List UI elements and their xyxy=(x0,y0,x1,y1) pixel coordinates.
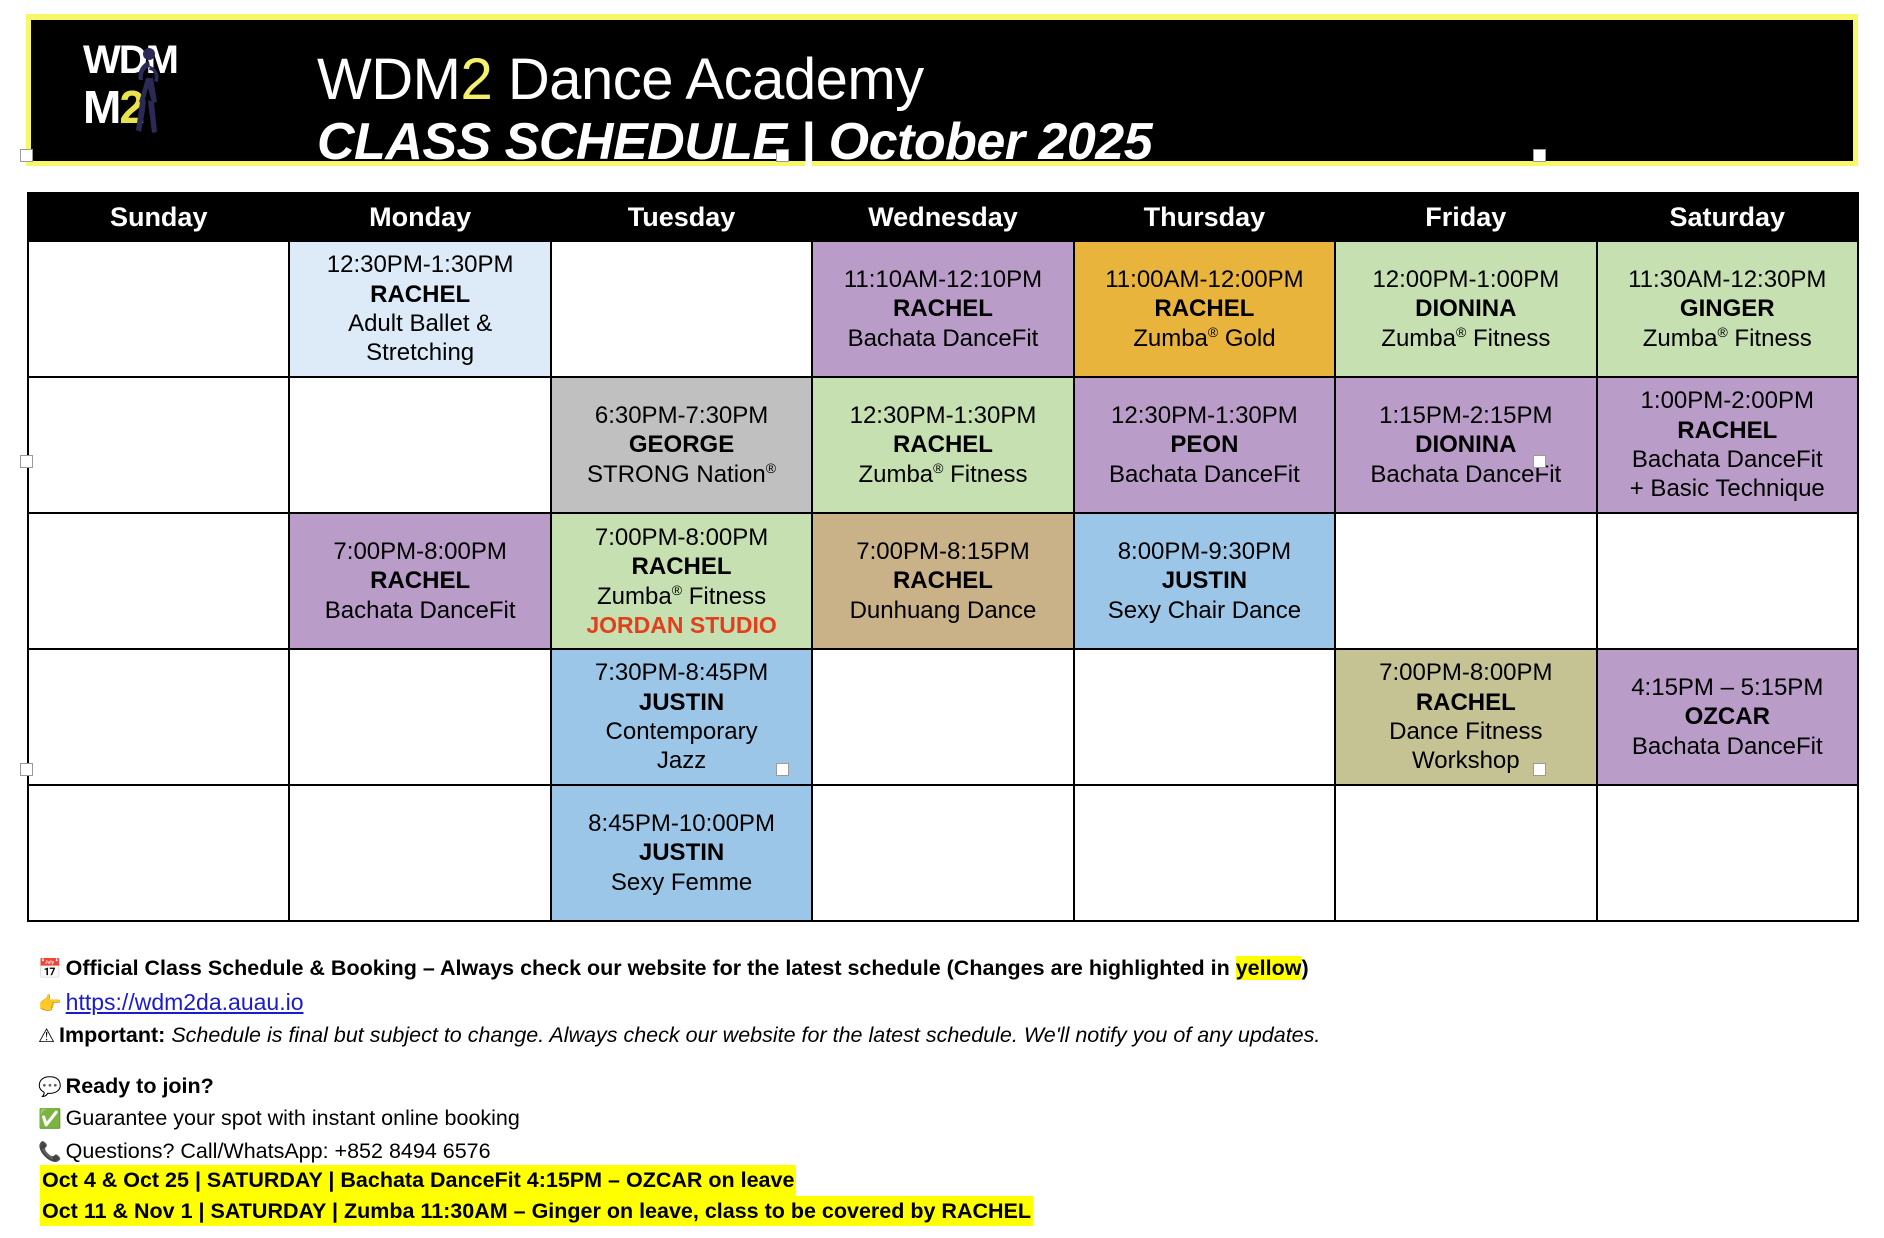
note-important-label: Important: xyxy=(59,1023,165,1047)
table-row: 12:30PM-1:30PMRACHELAdult Ballet &Stretc… xyxy=(28,241,1858,377)
class-cell-tuesday[interactable]: 6:30PM-7:30PMGEORGESTRONG Nation® xyxy=(551,377,812,513)
note-contact: 📞Questions? Call/WhatsApp: +852 8494 657… xyxy=(38,1135,1838,1168)
class-time: 12:30PM-1:30PM xyxy=(296,250,543,279)
class-time: 7:00PM-8:15PM xyxy=(819,537,1066,566)
class-title: + Basic Technique xyxy=(1604,474,1851,503)
class-instructor: JUSTIN xyxy=(558,838,805,867)
empty-cell-monday xyxy=(289,649,550,785)
class-cell-thursday[interactable]: 11:00AM-12:00PMRACHELZumba® Gold xyxy=(1074,241,1335,377)
class-time: 11:30AM-12:30PM xyxy=(1604,265,1851,294)
resize-handle-top-center[interactable] xyxy=(776,149,789,162)
class-time: 1:00PM-2:00PM xyxy=(1604,386,1851,415)
schedule-body: 12:30PM-1:30PMRACHELAdult Ballet &Stretc… xyxy=(28,241,1858,921)
class-cell-monday[interactable]: 12:30PM-1:30PMRACHELAdult Ballet &Stretc… xyxy=(289,241,550,377)
telephone-icon: 📞 xyxy=(38,1142,62,1163)
class-title: Bachata DanceFit xyxy=(1604,445,1851,474)
table-row: 8:45PM-10:00PMJUSTINSexy Femme xyxy=(28,785,1858,921)
class-instructor: RACHEL xyxy=(296,280,543,309)
class-cell-friday[interactable]: 12:00PM-1:00PMDIONINAZumba® Fitness xyxy=(1335,241,1596,377)
class-cell-monday[interactable]: 7:00PM-8:00PMRACHELBachata DanceFit xyxy=(289,513,550,649)
note-important-text: Schedule is final but subject to change.… xyxy=(165,1023,1320,1047)
class-cell-wednesday[interactable]: 7:00PM-8:15PMRACHELDunhuang Dance xyxy=(812,513,1073,649)
class-title: Contemporary xyxy=(558,717,805,746)
class-instructor: RACHEL xyxy=(1342,688,1589,717)
resize-handle-mid-right[interactable] xyxy=(1533,455,1546,468)
empty-cell-friday xyxy=(1335,785,1596,921)
empty-cell-sunday xyxy=(28,241,289,377)
class-title: Bachata DanceFit xyxy=(1081,460,1328,489)
class-time: 11:00AM-12:00PM xyxy=(1081,265,1328,294)
class-time: 6:30PM-7:30PM xyxy=(558,401,805,430)
class-title: Bachata DanceFit xyxy=(296,596,543,625)
table-row: 7:00PM-8:00PMRACHELBachata DanceFit7:00P… xyxy=(28,513,1858,649)
day-header-wednesday: Wednesday xyxy=(812,193,1073,241)
class-instructor: GINGER xyxy=(1604,294,1851,323)
class-studio-note: JORDAN STUDIO xyxy=(558,611,805,639)
class-title: Zumba® Fitness xyxy=(819,460,1066,489)
class-title: Zumba® Fitness xyxy=(558,582,805,611)
empty-cell-sunday xyxy=(28,513,289,649)
table-row: 6:30PM-7:30PMGEORGESTRONG Nation®12:30PM… xyxy=(28,377,1858,513)
class-time: 12:00PM-1:00PM xyxy=(1342,265,1589,294)
class-time: 12:30PM-1:30PM xyxy=(819,401,1066,430)
class-cell-friday[interactable]: 1:15PM-2:15PMDIONINABachata DanceFit xyxy=(1335,377,1596,513)
class-cell-wednesday[interactable]: 11:10AM-12:10PMRACHELBachata DanceFit xyxy=(812,241,1073,377)
class-instructor: RACHEL xyxy=(558,552,805,581)
class-time: 8:00PM-9:30PM xyxy=(1081,537,1328,566)
empty-cell-saturday xyxy=(1597,513,1858,649)
class-cell-saturday[interactable]: 1:00PM-2:00PMRACHELBachata DanceFit+ Bas… xyxy=(1597,377,1858,513)
class-cell-saturday[interactable]: 4:15PM – 5:15PMOZCARBachata DanceFit xyxy=(1597,649,1858,785)
empty-cell-wednesday xyxy=(812,649,1073,785)
substitution-note-2: Oct 11 & Nov 1 | SATURDAY | Zumba 11:30A… xyxy=(40,1196,1033,1227)
class-cell-thursday[interactable]: 12:30PM-1:30PMPEONBachata DanceFit xyxy=(1074,377,1335,513)
class-instructor: JUSTIN xyxy=(1081,566,1328,595)
day-header-thursday: Thursday xyxy=(1074,193,1335,241)
class-title: Jazz xyxy=(558,746,805,775)
class-cell-tuesday[interactable]: 7:00PM-8:00PMRACHELZumba® FitnessJORDAN … xyxy=(551,513,812,649)
note-official-schedule: 📅Official Class Schedule & Booking – Alw… xyxy=(38,952,1838,985)
empty-cell-saturday xyxy=(1597,785,1858,921)
class-title: Bachata DanceFit xyxy=(1342,460,1589,489)
note-contact-text: Questions? Call/WhatsApp: +852 8494 6576 xyxy=(66,1139,491,1163)
note-official-tail: ) xyxy=(1301,956,1308,980)
class-time: 1:15PM-2:15PM xyxy=(1342,401,1589,430)
resize-handle-top-left[interactable] xyxy=(20,149,33,162)
note-ready-text: Ready to join? xyxy=(66,1074,214,1098)
day-header-friday: Friday xyxy=(1335,193,1596,241)
class-instructor: GEORGE xyxy=(558,430,805,459)
class-cell-saturday[interactable]: 11:30AM-12:30PMGINGERZumba® Fitness xyxy=(1597,241,1858,377)
class-instructor: OZCAR xyxy=(1604,702,1851,731)
day-header-monday: Monday xyxy=(289,193,550,241)
class-title: Dunhuang Dance xyxy=(819,596,1066,625)
dancer-silhouette-icon xyxy=(127,44,167,140)
class-cell-wednesday[interactable]: 12:30PM-1:30PMRACHELZumba® Fitness xyxy=(812,377,1073,513)
resize-handle-top-right[interactable] xyxy=(1533,149,1546,162)
empty-cell-tuesday xyxy=(551,241,812,377)
class-title: Zumba® Fitness xyxy=(1342,324,1589,353)
table-header-row: Sunday Monday Tuesday Wednesday Thursday… xyxy=(28,193,1858,241)
empty-cell-sunday xyxy=(28,377,289,513)
day-header-sunday: Sunday xyxy=(28,193,289,241)
class-cell-thursday[interactable]: 8:00PM-9:30PMJUSTINSexy Chair Dance xyxy=(1074,513,1335,649)
resize-handle-bottom-left[interactable] xyxy=(20,763,33,776)
class-instructor: RACHEL xyxy=(819,430,1066,459)
class-title: Stretching xyxy=(296,338,543,367)
pointing-hand-icon: 👉 xyxy=(38,994,62,1015)
note-guarantee-text: Guarantee your spot with instant online … xyxy=(66,1106,520,1130)
class-instructor: RACHEL xyxy=(296,566,543,595)
day-header-saturday: Saturday xyxy=(1597,193,1858,241)
logo: WDM M2 xyxy=(83,40,179,148)
class-time: 7:30PM-8:45PM xyxy=(558,658,805,687)
warning-icon: ⚠ xyxy=(38,1026,55,1047)
empty-cell-monday xyxy=(289,377,550,513)
class-title: Bachata DanceFit xyxy=(819,324,1066,353)
note-guarantee-spot: ✅Guarantee your spot with instant online… xyxy=(38,1102,1838,1135)
check-mark-icon: ✅ xyxy=(38,1109,62,1130)
resize-handle-bottom-center[interactable] xyxy=(776,763,789,776)
empty-cell-monday xyxy=(289,785,550,921)
class-instructor: RACHEL xyxy=(819,294,1066,323)
page-subtitle: CLASS SCHEDULE | October 2025 xyxy=(317,112,1152,172)
empty-cell-thursday xyxy=(1074,649,1335,785)
class-time: 11:10AM-12:10PM xyxy=(819,265,1066,294)
class-instructor: PEON xyxy=(1081,430,1328,459)
class-cell-tuesday[interactable]: 7:30PM-8:45PMJUSTINContemporaryJazz xyxy=(551,649,812,785)
note-ready-to-join: 💬Ready to join? xyxy=(38,1070,1838,1103)
empty-cell-wednesday xyxy=(812,785,1073,921)
resize-handle-mid-left[interactable] xyxy=(20,455,33,468)
note-official-text: Official Class Schedule & Booking – Alwa… xyxy=(66,956,1236,980)
class-instructor: JUSTIN xyxy=(558,688,805,717)
class-time: 4:15PM – 5:15PM xyxy=(1604,673,1851,702)
table-row: 7:30PM-8:45PMJUSTINContemporaryJazz7:00P… xyxy=(28,649,1858,785)
substitution-note-1: Oct 4 & Oct 25 | SATURDAY | Bachata Danc… xyxy=(40,1165,796,1196)
class-title: Dance Fitness xyxy=(1342,717,1589,746)
schedule-table-wrap: Sunday Monday Tuesday Wednesday Thursday… xyxy=(27,192,1859,922)
class-time: 12:30PM-1:30PM xyxy=(1081,401,1328,430)
class-title: Adult Ballet & xyxy=(296,309,543,338)
schedule-page: WDM M2 WDM2 Dance Academy CLASS SCHEDULE… xyxy=(0,0,1884,1238)
class-time: 7:00PM-8:00PM xyxy=(296,537,543,566)
class-time: 8:45PM-10:00PM xyxy=(558,809,805,838)
class-time: 7:00PM-8:00PM xyxy=(1342,658,1589,687)
header-banner: WDM M2 WDM2 Dance Academy CLASS SCHEDULE… xyxy=(26,14,1858,166)
notes-spacer xyxy=(38,1052,1838,1070)
calendar-icon: 📅 xyxy=(38,959,62,980)
empty-cell-thursday xyxy=(1074,785,1335,921)
class-instructor: DIONINA xyxy=(1342,294,1589,323)
class-time: 7:00PM-8:00PM xyxy=(558,523,805,552)
website-link[interactable]: https://wdm2da.auau.io xyxy=(66,989,304,1015)
class-cell-friday[interactable]: 7:00PM-8:00PMRACHELDance FitnessWorkshop xyxy=(1335,649,1596,785)
class-cell-tuesday[interactable]: 8:45PM-10:00PMJUSTINSexy Femme xyxy=(551,785,812,921)
class-title: Sexy Chair Dance xyxy=(1081,596,1328,625)
class-title: Zumba® Gold xyxy=(1081,324,1328,353)
class-title: Sexy Femme xyxy=(558,868,805,897)
empty-cell-sunday xyxy=(28,649,289,785)
speech-bubble-icon: 💬 xyxy=(38,1077,62,1098)
class-title: Workshop xyxy=(1342,746,1589,775)
note-yellow-word: yellow xyxy=(1236,956,1302,980)
empty-cell-friday xyxy=(1335,513,1596,649)
footer-notes: 📅Official Class Schedule & Booking – Alw… xyxy=(38,952,1838,1167)
substitution-notes: Oct 4 & Oct 25 | SATURDAY | Bachata Danc… xyxy=(40,1165,1033,1226)
note-important: ⚠Important: Schedule is final but subjec… xyxy=(38,1019,1838,1052)
empty-cell-sunday xyxy=(28,785,289,921)
page-title: WDM2 Dance Academy xyxy=(317,46,924,113)
note-website-link-row[interactable]: 👉https://wdm2da.auau.io xyxy=(38,985,1838,1020)
class-instructor: RACHEL xyxy=(1081,294,1328,323)
class-instructor: RACHEL xyxy=(1604,416,1851,445)
schedule-table: Sunday Monday Tuesday Wednesday Thursday… xyxy=(27,192,1859,922)
class-instructor: RACHEL xyxy=(819,566,1066,595)
class-title: Bachata DanceFit xyxy=(1604,732,1851,761)
class-title: STRONG Nation® xyxy=(558,460,805,489)
day-header-tuesday: Tuesday xyxy=(551,193,812,241)
class-instructor: DIONINA xyxy=(1342,430,1589,459)
resize-handle-bottom-right[interactable] xyxy=(1533,763,1546,776)
class-title: Zumba® Fitness xyxy=(1604,324,1851,353)
